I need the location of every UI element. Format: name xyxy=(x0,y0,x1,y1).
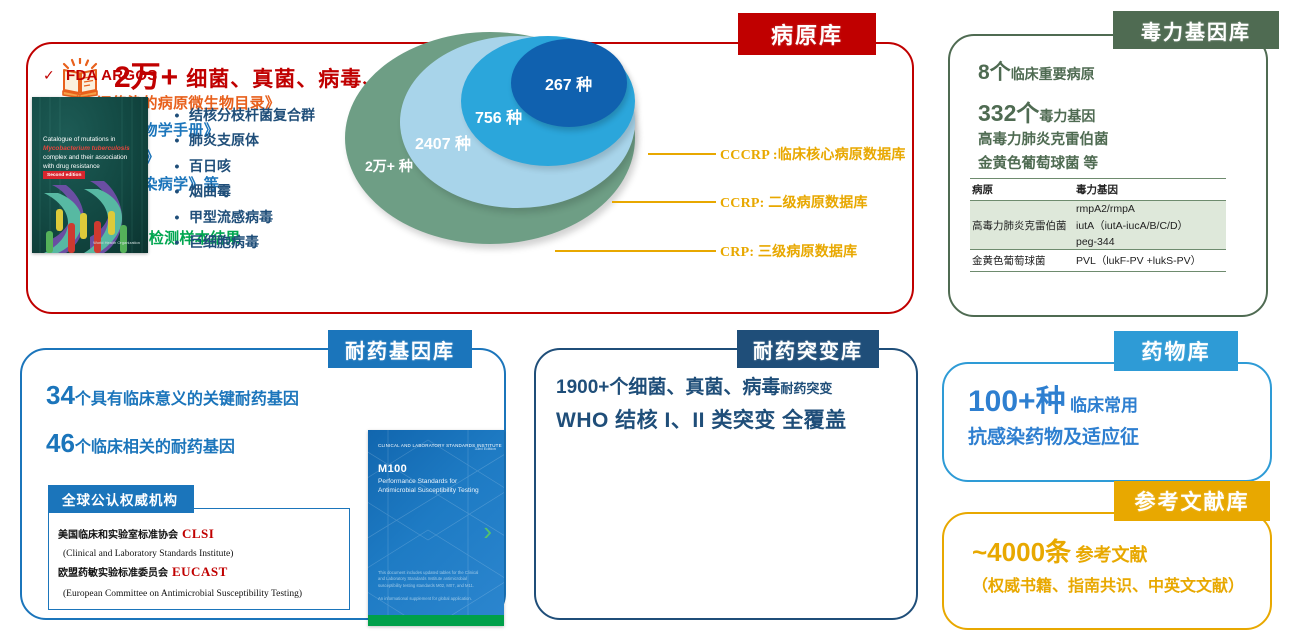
virulence-line-2: 332个毒力基因 xyxy=(978,94,1095,128)
table-row: 金黄色葡萄球菌 PVL（lukF-PV +lukS-PV） xyxy=(970,250,1226,272)
list-item: • 烟曲霉 xyxy=(165,179,375,205)
reference-line-1: ~4000条 参考文献 xyxy=(972,532,1147,569)
list-item: • 肺炎支原体 xyxy=(165,128,375,154)
check-icon: ✓ xyxy=(36,67,62,84)
venn-leader-1 xyxy=(648,153,716,155)
virulence-line-3: 高毒力肺炎克雷伯菌 xyxy=(978,128,1109,149)
resistance-gene-library-badge: 耐药基因库 xyxy=(328,330,472,368)
pathogen-venn-diagram: 267 种 756 种 2407 种 2万+ 种 xyxy=(345,14,765,264)
who-book-edition: Second edition xyxy=(43,171,85,179)
bullet-icon: • xyxy=(165,209,189,225)
mutation-line-2: WHO 结核 I、II 类突变 全覆盖 xyxy=(556,404,847,434)
authority-box: 全球公认权威机构 美国临床和实验室标准协会 CLSI (Clinical and… xyxy=(48,508,350,610)
table-header-row: 病原 毒力基因 xyxy=(970,179,1226,201)
cell-gene: peg-344 xyxy=(1074,234,1226,250)
list-item: • 百日咳 xyxy=(165,153,375,179)
list-item: ✓ FDA ARGOS xyxy=(36,62,336,89)
book-code: M100 xyxy=(378,463,407,475)
book-bottom-bar xyxy=(368,615,504,626)
th-gene: 毒力基因 xyxy=(1074,179,1226,201)
venn-annotation-3: CRP: 三级病原数据库 xyxy=(720,241,857,261)
venn-annotation-1: CCCRP :临床核心病原数据库 xyxy=(720,144,906,164)
virulence-gene-library-badge: 毒力基因库 xyxy=(1113,11,1279,49)
mutation-line-1: 1900+个细菌、真菌、病毒耐药突变 xyxy=(556,372,832,399)
authority-box-header: 全球公认权威机构 xyxy=(48,485,194,513)
reference-line-2: （权威书籍、指南共识、中英文文献） xyxy=(972,572,1244,596)
resgene-line-2: 46个临床相关的耐药基因 xyxy=(46,428,235,459)
book-subtitle: Performance Standards for Antimicrobial … xyxy=(378,478,490,496)
pathogen-library-badge: 病原库 xyxy=(738,13,876,55)
bullet-icon: • xyxy=(165,234,189,250)
cell-gene: iutA（iutA-iucA/B/C/D） xyxy=(1074,216,1226,234)
virulence-line-4: 金黄色葡萄球菌 等 xyxy=(978,152,1098,173)
cell-pathogen: 金黄色葡萄球菌 xyxy=(970,250,1074,272)
authority-cn-1: 美国临床和实验室标准协会 xyxy=(58,530,178,541)
authority-en-2: (European Committee on Antimicrobial Sus… xyxy=(63,589,302,599)
who-book-cover: Catalogue of mutations in Mycobacterium … xyxy=(32,97,148,253)
venn-inner-label: 756 种 xyxy=(475,104,522,128)
reference-library-badge: 参考文献库 xyxy=(1114,481,1270,521)
venn-outer-label: 2万+ 种 xyxy=(365,156,413,176)
authority-abbr-2: EUCAST xyxy=(172,564,228,579)
venn-leader-2 xyxy=(612,201,716,203)
venn-mid-label: 2407 种 xyxy=(415,130,471,154)
authority-cn-2: 欧盟药敏实验标准委员会 xyxy=(58,568,168,579)
list-item: • 巨细胞病毒 xyxy=(165,230,375,256)
resgene-line-1: 34个具有临床意义的关键耐药基因 xyxy=(46,380,299,411)
bullet-icon: • xyxy=(165,132,189,148)
chevron-right-icon: › xyxy=(483,518,492,544)
venn-leader-3 xyxy=(555,250,716,252)
virulence-gene-table: 病原 毒力基因 高毒力肺炎克雷伯菌 rmpA2/rmpA iutA（iutA-i… xyxy=(970,178,1226,272)
list-item: • 结核分枝杆菌复合群 xyxy=(165,102,375,128)
m100-book-cover: CLINICAL AND LABORATORY STANDARDS INSTIT… xyxy=(368,430,504,626)
th-pathogen: 病原 xyxy=(970,179,1074,201)
drug-line-2: 抗感染药物及适应征 xyxy=(968,422,1139,449)
infographic-canvas: 病原库 2万+ 细菌、真菌、病毒、寄生虫 ✓ FDA xyxy=(0,0,1293,641)
venn-annotation-2: CCRP: 二级病原数据库 xyxy=(720,192,868,212)
venn-core-label: 267 种 xyxy=(545,71,592,95)
book-footnote-2: An informational supplement for global a… xyxy=(378,596,486,601)
reference-library-panel xyxy=(942,512,1272,630)
bullet-icon: • xyxy=(165,107,189,123)
bullet-icon: • xyxy=(165,183,189,199)
cell-gene: PVL（lukF-PV +lukS-PV） xyxy=(1074,250,1226,272)
cell-gene: rmpA2/rmpA xyxy=(1074,201,1226,217)
book-edition: 33rd Edition xyxy=(475,446,496,451)
drug-library-badge: 药物库 xyxy=(1114,331,1238,371)
virulence-line-1: 8个临床重要病原 xyxy=(978,56,1095,86)
book-footnote: This document includes updated tables fo… xyxy=(378,570,486,589)
cell-pathogen: 高毒力肺炎克雷伯菌 xyxy=(970,201,1074,250)
resistance-mutation-library-badge: 耐药突变库 xyxy=(737,330,879,368)
who-book-title: Catalogue of mutations in Mycobacterium … xyxy=(43,135,139,171)
authority-abbr-1: CLSI xyxy=(182,526,214,541)
mutation-coverage-list: • 结核分枝杆菌复合群 • 肺炎支原体 • 百日咳 • 烟曲霉 • 甲型流感病毒… xyxy=(165,102,375,255)
who-logo: World Health Organization xyxy=(93,241,140,246)
list-item: • 甲型流感病毒 xyxy=(165,204,375,230)
bullet-icon: • xyxy=(165,158,189,174)
authority-en-1: (Clinical and Laboratory Standards Insti… xyxy=(63,549,233,559)
table-row: 高毒力肺炎克雷伯菌 rmpA2/rmpA xyxy=(970,201,1226,217)
drug-line-1: 100+种 临床常用 xyxy=(968,376,1138,420)
